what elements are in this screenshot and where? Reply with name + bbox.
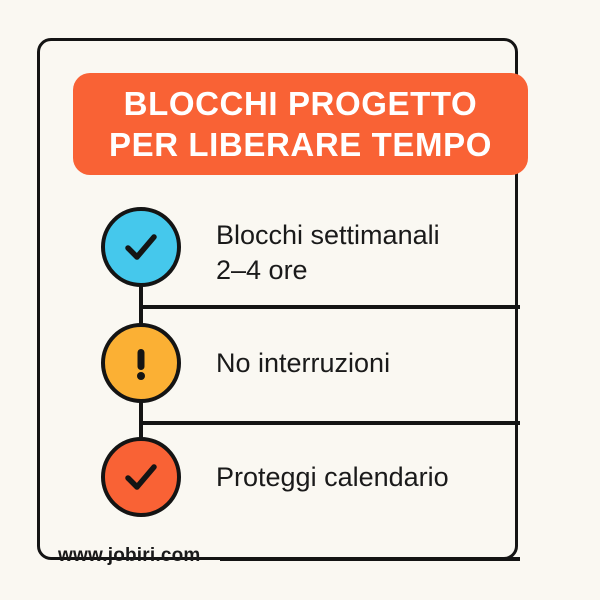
exclamation-icon: [118, 340, 164, 386]
list-item-label-2: No interruzioni: [216, 346, 390, 381]
list-item-icon-3: [101, 437, 181, 517]
list-item-icon-1: [101, 207, 181, 287]
website-label: www.jobiri.com: [58, 545, 201, 567]
footer-rule: [220, 557, 520, 561]
list-item-icon-2: [101, 323, 181, 403]
infographic-canvas: BLOCCHI PROGETTO PER LIBERARE TEMPO Bloc…: [0, 0, 600, 600]
list-item-label-1: Blocchi settimanali 2–4 ore: [216, 218, 440, 288]
steps-list: Blocchi settimanali 2–4 ore No interruzi…: [0, 0, 600, 600]
divider-1: [139, 305, 520, 309]
check-icon: [118, 224, 164, 270]
check-icon: [118, 454, 164, 500]
divider-2: [139, 421, 520, 425]
list-item-label-3: Proteggi calendario: [216, 460, 449, 495]
